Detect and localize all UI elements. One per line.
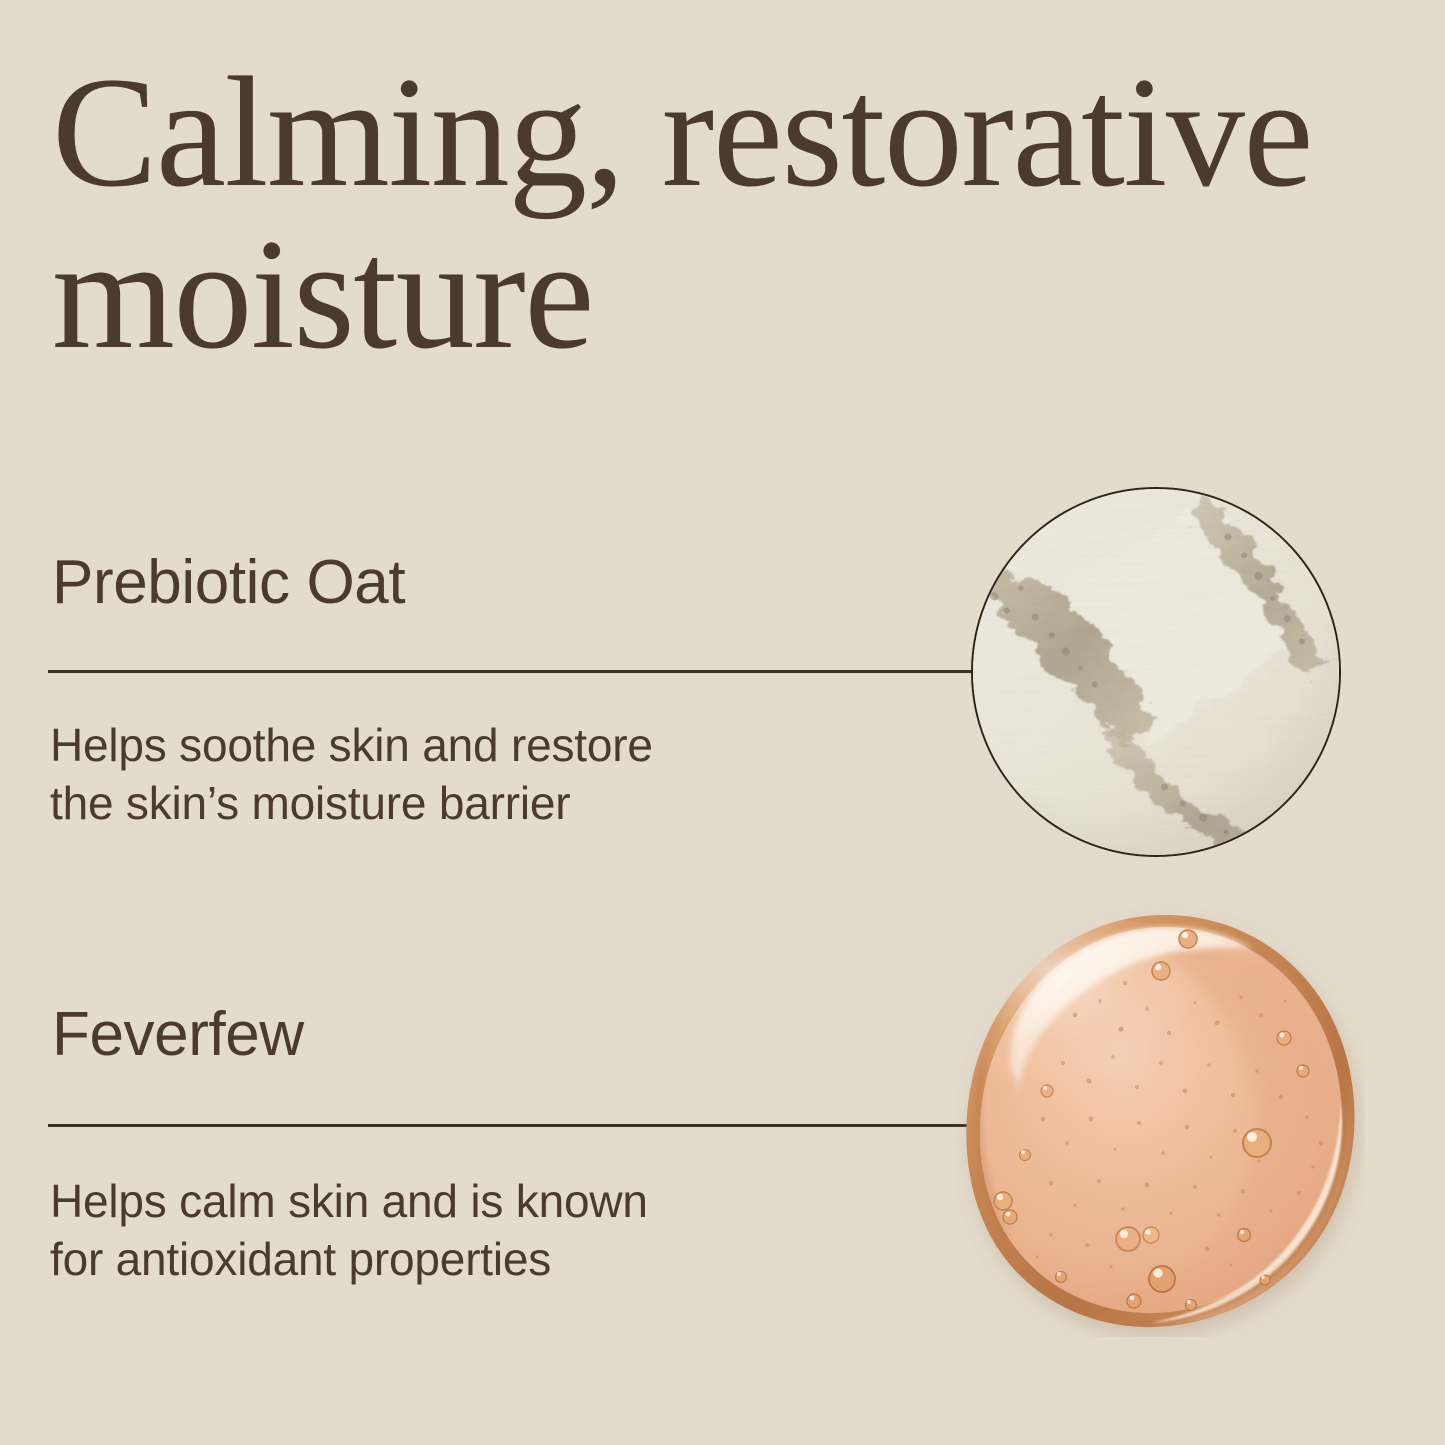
ingredient-description: Helps calm skin and is known for antioxi… (50, 1172, 648, 1288)
ingredient-name: Prebiotic Oat (52, 548, 405, 618)
ingredient-name: Feverfew (52, 1000, 304, 1070)
ingredient-description: Helps soothe skin and restore the skin’s… (50, 716, 653, 832)
page-title: Calming, restorative moisture (52, 52, 1372, 376)
feverfew-gel-image (955, 905, 1365, 1337)
marketing-panel: Calming, restorative moisture Prebiotic … (0, 0, 1445, 1445)
ingredient-divider (48, 670, 996, 673)
ingredient-divider (48, 1124, 976, 1127)
oat-powder-texture (971, 487, 1341, 857)
feverfew-gel-blob (955, 905, 1365, 1337)
oat-powder-image (971, 487, 1341, 857)
